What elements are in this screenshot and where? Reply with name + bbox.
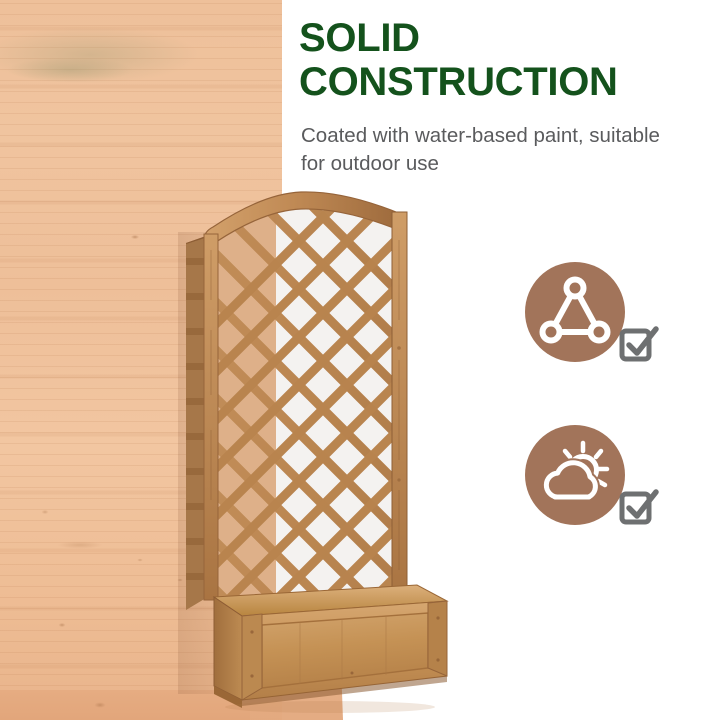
feature-badge-weather [518,418,678,548]
sun-behind-cloud-icon [525,425,625,525]
planter-corner-post-left [242,614,262,700]
feature-badge-structure [518,255,678,385]
subtitle: Coated with water-based paint, suitable … [301,122,681,178]
headline-line-1: SOLID [299,16,420,60]
planter-corner-post-right [428,601,447,676]
checkbox-checked-icon [618,325,660,365]
checkbox-checked-icon [618,488,660,528]
triangle-structure-icon [525,262,625,362]
headline-line-2: CONSTRUCTION [299,60,699,104]
planter-floor-shadow [225,701,435,713]
product-feature-banner: SOLID CONSTRUCTION Coated with water-bas… [0,0,720,720]
headline: SOLID CONSTRUCTION [299,16,699,104]
